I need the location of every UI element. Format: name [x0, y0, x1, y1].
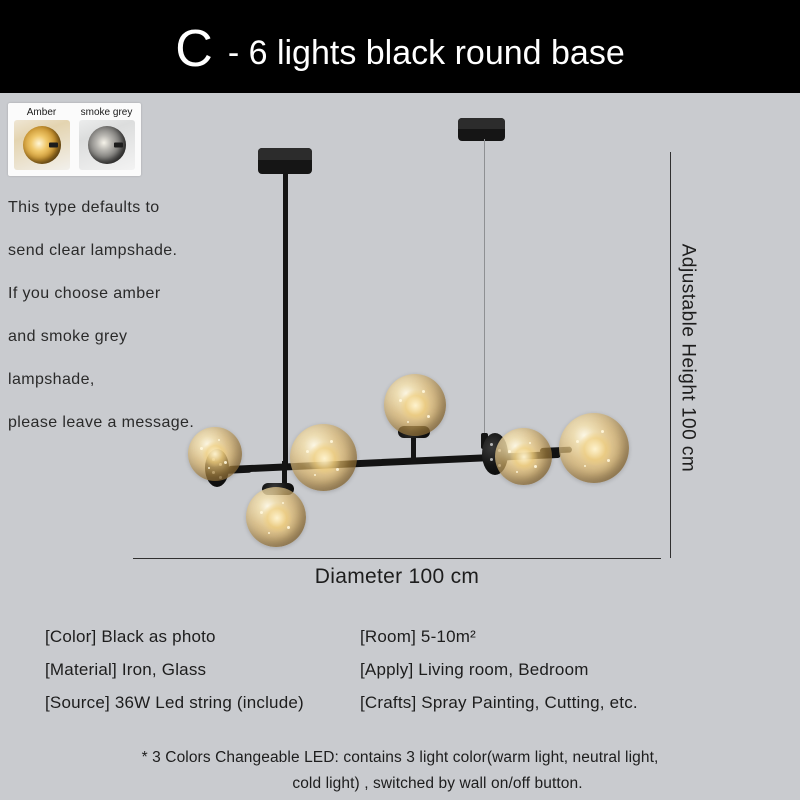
- screw-dot: [490, 443, 493, 446]
- diameter-dimension-label: Diameter 100 cm: [133, 565, 661, 589]
- led-spark: [218, 439, 220, 441]
- led-footnote: * 3 Colors Changeable LED: contains 3 li…: [0, 745, 800, 797]
- footnote-line-2: cold light) , switched by wall on/off bu…: [0, 771, 800, 797]
- height-dimension-label-wrap: Adjustable Height 100 cm: [672, 158, 702, 558]
- led-spark: [282, 502, 284, 504]
- spec-row: [Source] 36W Led string (include) [Craft…: [0, 686, 800, 719]
- ceiling-canopy-left: [258, 148, 312, 174]
- led-spark: [399, 399, 402, 402]
- led-spark: [208, 467, 210, 469]
- led-spark: [508, 450, 511, 453]
- spec-material: [Material] Iron, Glass: [0, 653, 360, 686]
- led-spark: [607, 459, 610, 462]
- spec-row: [Color] Black as photo [Room] 5-10m²: [0, 620, 800, 653]
- led-spark: [427, 415, 430, 418]
- led-spark: [529, 442, 531, 444]
- height-dimension-label: Adjustable Height 100 cm: [676, 244, 698, 473]
- light-globe: [559, 413, 629, 483]
- ceiling-canopy-right: [458, 118, 505, 141]
- variant-letter: C: [175, 23, 214, 75]
- led-spark: [268, 532, 270, 534]
- led-spark: [336, 468, 339, 471]
- led-spark: [407, 421, 409, 423]
- light-globe: [246, 487, 306, 547]
- suspension-rod-left: [283, 172, 288, 467]
- led-spark: [224, 461, 227, 464]
- led-spark: [287, 526, 290, 529]
- diameter-dimension-line: [133, 558, 661, 559]
- led-spark: [200, 447, 203, 450]
- header-banner: C - 6 lights black round base: [0, 0, 800, 93]
- led-spark: [330, 440, 333, 443]
- led-spark: [584, 465, 586, 467]
- led-spark: [306, 450, 309, 453]
- product-detail-image: C - 6 lights black round base Amber smok…: [0, 0, 800, 800]
- spec-row: [Material] Iron, Glass [Apply] Living ro…: [0, 653, 800, 686]
- light-globe: [495, 428, 552, 485]
- spec-apply: [Apply] Living room, Bedroom: [360, 653, 589, 686]
- led-spark: [516, 471, 518, 473]
- header-title-group: C - 6 lights black round base: [175, 21, 624, 73]
- variant-title: - 6 lights black round base: [228, 36, 625, 70]
- led-spark: [601, 430, 604, 433]
- canopy-top: [258, 148, 312, 160]
- spec-color: [Color] Black as photo: [0, 620, 360, 653]
- led-spark: [534, 465, 537, 468]
- light-globe: [384, 374, 446, 436]
- spec-crafts: [Crafts] Spray Painting, Cutting, etc.: [360, 686, 638, 719]
- spec-room: [Room] 5-10m²: [360, 620, 476, 653]
- spec-source: [Source] 36W Led string (include): [0, 686, 360, 719]
- led-spark: [422, 390, 425, 393]
- led-spark: [314, 474, 316, 476]
- canopy-top: [458, 118, 505, 129]
- specs-grid: [Color] Black as photo [Room] 5-10m² [Ma…: [0, 620, 800, 719]
- suspension-wire-right: [484, 139, 485, 439]
- light-globe: [188, 427, 242, 481]
- led-spark: [260, 511, 263, 514]
- led-spark: [576, 440, 579, 443]
- light-globe: [290, 424, 357, 491]
- height-dimension-line: [670, 152, 671, 558]
- footnote-line-1: * 3 Colors Changeable LED: contains 3 li…: [0, 745, 800, 771]
- screw-dot: [490, 458, 493, 461]
